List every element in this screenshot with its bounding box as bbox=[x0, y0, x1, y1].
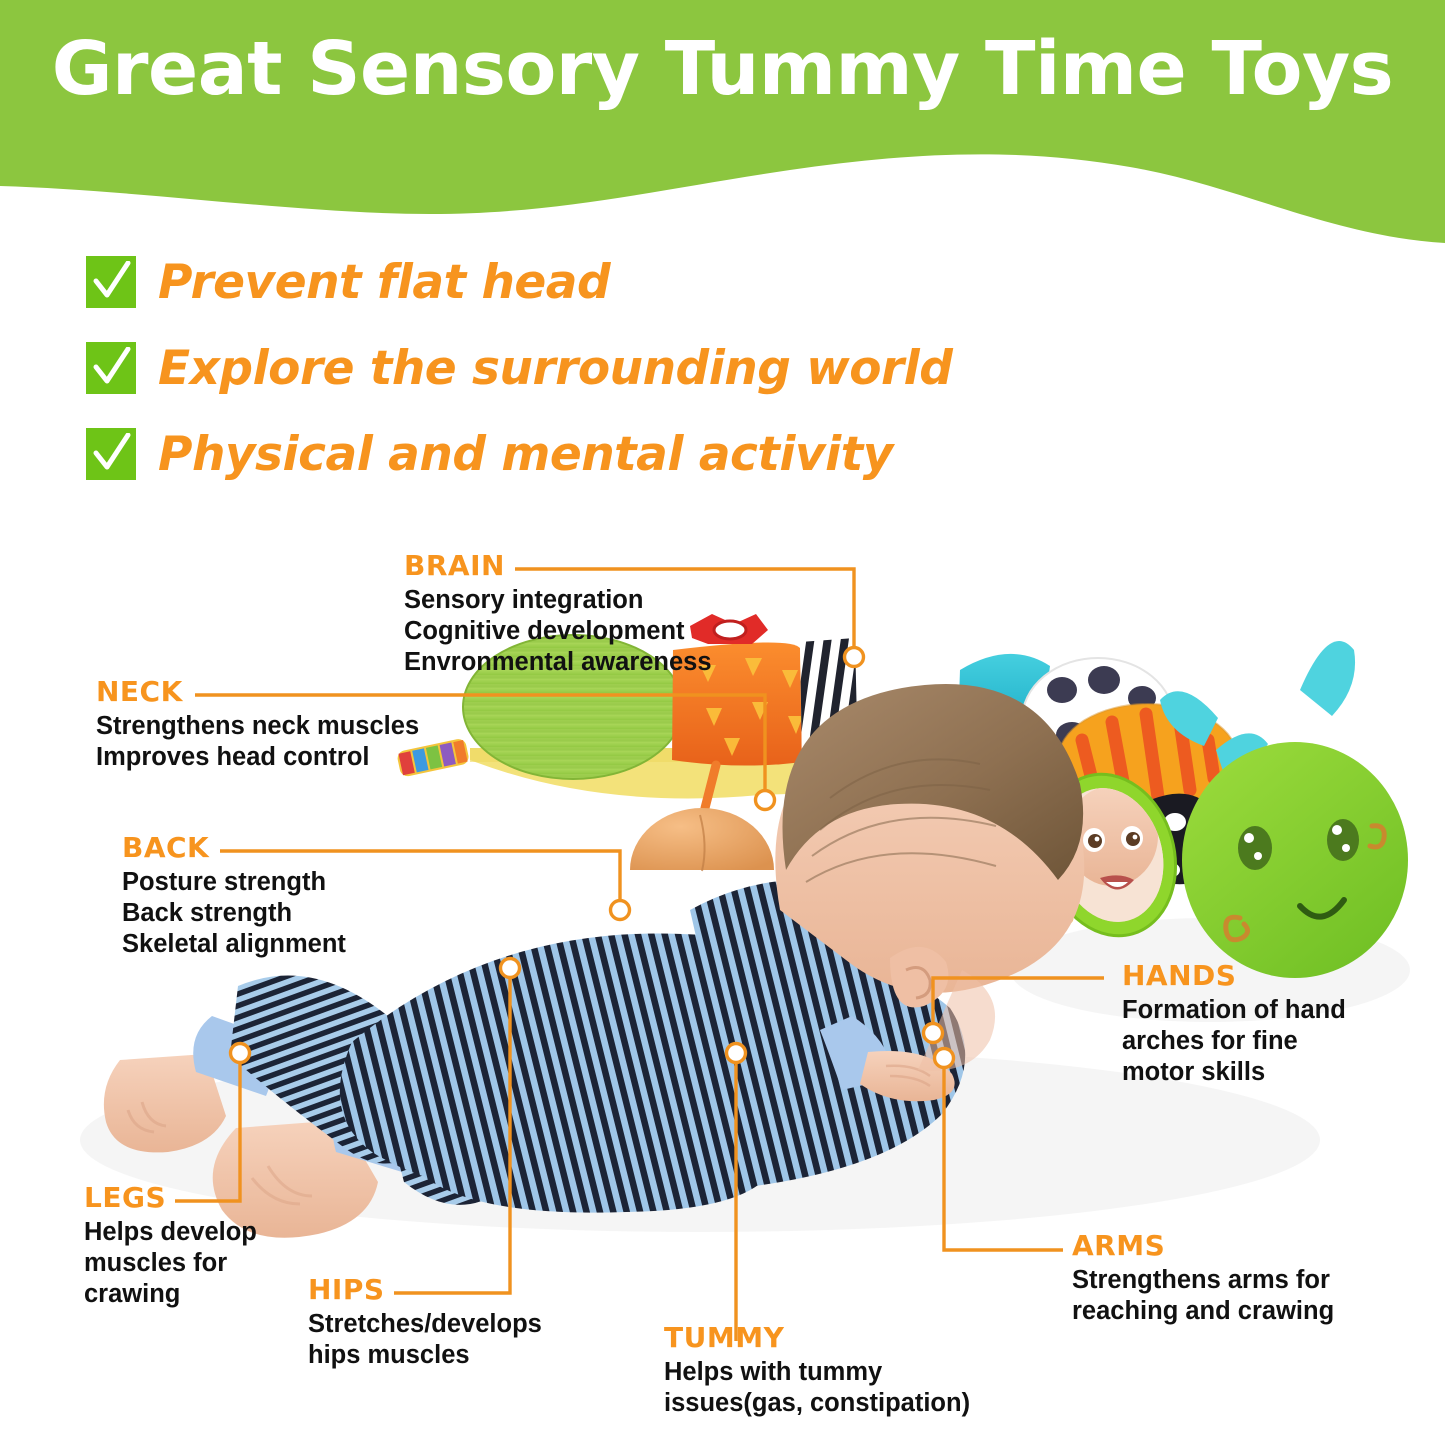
callout-arms: ARMS Strengthens arms for reaching and c… bbox=[1072, 1232, 1334, 1327]
callout-hands: HANDS Formation of hand arches for fine … bbox=[1122, 962, 1346, 1088]
callout-brain-title: BRAIN bbox=[404, 552, 712, 580]
callout-back-body: Posture strength Back strength Skeletal … bbox=[122, 867, 346, 960]
benefit-item-2: Explore the surrounding world bbox=[86, 332, 952, 404]
callout-hips-body: Stretches/develops hips muscles bbox=[308, 1309, 542, 1371]
callout-brain: BRAIN Sensory integration Cognitive deve… bbox=[404, 552, 712, 678]
callout-brain-body: Sensory integration Cognitive developmen… bbox=[404, 585, 712, 678]
callout-legs-title: LEGS bbox=[84, 1184, 257, 1212]
callout-tummy-body: Helps with tummy issues(gas, constipatio… bbox=[664, 1357, 970, 1419]
benefit-item-3: Physical and mental activity bbox=[86, 418, 952, 490]
check-icon bbox=[86, 428, 136, 480]
page-title: Great Sensory Tummy Time Toys bbox=[0, 26, 1445, 112]
check-icon bbox=[86, 256, 136, 308]
callout-neck-title: NECK bbox=[96, 678, 419, 706]
callout-hands-body: Formation of hand arches for fine motor … bbox=[1122, 995, 1346, 1088]
benefit-label: Physical and mental activity bbox=[158, 427, 893, 482]
callout-hands-title: HANDS bbox=[1122, 962, 1346, 990]
callout-back: BACK Posture strength Back strength Skel… bbox=[122, 834, 346, 960]
callout-legs: LEGS Helps develop muscles for crawing bbox=[84, 1184, 257, 1310]
callout-hips-title: HIPS bbox=[308, 1276, 542, 1304]
callout-tummy: TUMMY Helps with tummy issues(gas, const… bbox=[664, 1324, 970, 1419]
benefit-label: Prevent flat head bbox=[158, 255, 610, 310]
callout-arms-title: ARMS bbox=[1072, 1232, 1334, 1260]
check-icon bbox=[86, 342, 136, 394]
callout-legs-body: Helps develop muscles for crawing bbox=[84, 1217, 257, 1310]
callout-neck: NECK Strengthens neck muscles Improves h… bbox=[96, 678, 419, 773]
callout-tummy-title: TUMMY bbox=[664, 1324, 970, 1352]
callout-back-title: BACK bbox=[122, 834, 346, 862]
benefit-item-1: Prevent flat head bbox=[86, 246, 952, 318]
callout-neck-body: Strengthens neck muscles Improves head c… bbox=[96, 711, 419, 773]
callout-hips: HIPS Stretches/develops hips muscles bbox=[308, 1276, 542, 1371]
callout-arms-body: Strengthens arms for reaching and crawin… bbox=[1072, 1265, 1334, 1327]
benefit-label: Explore the surrounding world bbox=[158, 341, 952, 396]
benefits-list: Prevent flat head Explore the surroundin… bbox=[86, 246, 952, 504]
infographic-root: Great Sensory Tummy Time Toys Prevent fl… bbox=[0, 0, 1445, 1445]
